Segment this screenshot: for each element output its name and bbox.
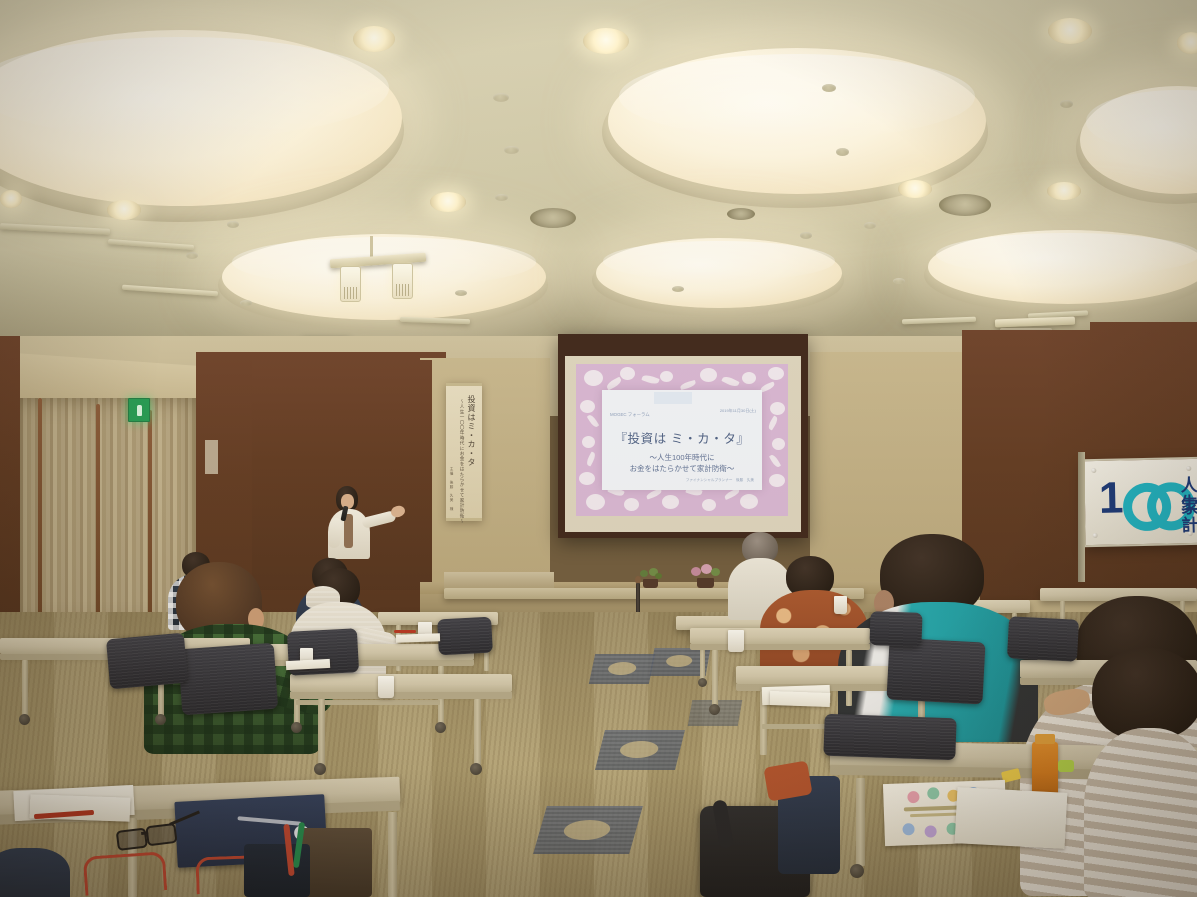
partial-br-body (1084, 728, 1197, 897)
left-wall-edge (0, 336, 20, 636)
desk-right-mid (690, 628, 870, 644)
ceiling-light-panel-4 (222, 234, 546, 320)
curtain-rod-1 (38, 398, 42, 616)
sprinkler-4 (227, 221, 239, 228)
desk-leg-rm1 (712, 650, 718, 706)
flower-bloom-1 (640, 570, 648, 577)
exit-person-icon (137, 405, 142, 416)
attendee-partial-bottom-left (0, 848, 70, 897)
downlight-4 (1177, 32, 1197, 54)
tote-handle-red-1 (83, 851, 168, 896)
flower-bloom-6 (711, 568, 720, 576)
banner-subtitle-text: ～人生一〇〇年時代にお金をはたらかせて家計防衛～ (459, 399, 465, 499)
green-item (1058, 760, 1074, 772)
chandelier-lamp-2 (392, 263, 413, 299)
sprinkler-8 (800, 232, 812, 239)
desk-leg-lm1 (22, 660, 28, 716)
brochure-page-2 (955, 787, 1068, 849)
ceiling-light-panel-5 (596, 238, 842, 308)
slide-subtitle-line1: ～人生100年時代に (602, 452, 762, 463)
sprinkler-10 (1060, 100, 1073, 108)
banner-title-text: 投資はミ・カ・タ (466, 395, 477, 453)
carpet-accent-tile-3 (595, 730, 685, 770)
sprinkler-9 (864, 222, 876, 229)
caster-lm1 (19, 714, 30, 725)
slide-header-text: MOGEC フォーラム (610, 412, 650, 418)
logo-number-1: 1 (1098, 476, 1123, 521)
banner-top-edge (446, 383, 482, 386)
board-screw-3 (1093, 533, 1098, 538)
flower-arrangement-right (688, 564, 722, 588)
slide-content-box: MOGEC フォーラム 2019年11月30日(土) 『投資は ミ・カ・タ』 ～… (602, 390, 762, 490)
chandelier-grille-2 (396, 284, 409, 296)
slide-tag-box (654, 392, 692, 404)
slide-date-text: 2019年11月30日(土) (720, 408, 756, 414)
downlight-9 (0, 190, 22, 208)
logo-board-stand (1078, 452, 1085, 582)
logo-board-100: 1 人生 家計 (1082, 457, 1197, 547)
chair-right-4[interactable] (869, 611, 922, 647)
attendee-partial-bottom-right (1084, 648, 1197, 897)
partial-br-head (1092, 648, 1197, 740)
seminar-room-photo: MOGEC フォーラム 2019年11月30日(土) 『投資は ミ・カ・タ』 ～… (0, 0, 1197, 897)
downlight-6 (430, 192, 466, 212)
sprinkler-1 (493, 93, 509, 102)
board-screw-2 (1186, 466, 1191, 471)
downlight-1 (353, 26, 395, 52)
flower-bloom-3 (655, 573, 662, 579)
ceiling-light-panel-2 (608, 48, 986, 194)
chandelier-rod (370, 236, 373, 258)
caster-lm2 (155, 714, 166, 725)
ceiling-vent-2 (939, 194, 991, 216)
vertical-banner: 投資はミ・カ・タ ～人生一〇〇年時代にお金をはたらかせて家計防衛～ 主催 後藤 … (446, 383, 482, 521)
side-table-left (444, 572, 554, 588)
carpet-accent-tile-1 (589, 654, 655, 684)
slide-title-text: 『投資は ミ・カ・タ』 (602, 428, 762, 447)
sprinkler-7 (836, 148, 849, 156)
presenter (312, 486, 408, 566)
paper-cup-1 (378, 676, 394, 698)
flower-pot-left (643, 579, 658, 588)
brown-bag (300, 828, 372, 897)
downlight-5 (107, 200, 141, 220)
desk-leg-fgr1 (856, 778, 865, 866)
board-kanji-line2: 家計 (1181, 499, 1197, 535)
caster-fl2 (470, 763, 482, 775)
bottle-cap (1035, 734, 1055, 744)
banner-credit-text: 主催 後藤 久美 様 (450, 467, 455, 513)
flower-bloom-4 (691, 567, 701, 576)
tote-print (237, 816, 301, 826)
chair-left-2[interactable] (106, 633, 188, 690)
caster-ml1 (291, 722, 302, 733)
paper-cup-5 (834, 596, 847, 614)
chair-left-1[interactable] (178, 643, 278, 716)
exit-sign (128, 398, 150, 422)
wall-tan-left (420, 358, 550, 588)
caster-fl1 (314, 763, 326, 775)
slide-subtitle-line2: お金をはたらかせて家計防衛～ (602, 463, 762, 474)
ceiling-vent-3 (727, 208, 755, 220)
red-pen (394, 630, 416, 633)
ceiling-light-panel-6 (928, 230, 1197, 304)
sprinkler-14 (672, 286, 684, 292)
flower-pot-right (697, 578, 714, 588)
curtain-rod-2 (96, 404, 100, 616)
glasses-lens-right (145, 823, 177, 847)
paper-cup-4 (728, 630, 744, 652)
chair-left-4[interactable] (437, 617, 493, 656)
caster-rm1 (709, 704, 720, 715)
chair-right-2[interactable] (823, 714, 956, 761)
chandelier-grille-1 (344, 287, 357, 299)
carpet-accent-tile-4 (533, 806, 643, 854)
sprinkler-12 (240, 300, 252, 306)
downlight-2 (583, 28, 629, 54)
chair-right-1[interactable] (886, 638, 985, 705)
wall-plate (205, 440, 218, 474)
sprinkler-2 (504, 146, 519, 154)
caster-ml2 (435, 722, 446, 733)
sprinkler-5 (186, 252, 198, 259)
chandelier-lamp-1 (340, 266, 361, 302)
sprinkler-15 (893, 278, 905, 284)
sprinkler-6 (822, 84, 836, 92)
desk-front-left (290, 674, 512, 692)
desk-leg-fl2 (474, 699, 481, 765)
ceiling-vent-1 (530, 208, 576, 228)
sprinkler-13 (455, 290, 467, 296)
desk-leg-fgl2 (388, 812, 397, 897)
downlight-3 (1048, 18, 1092, 44)
downlight-8 (1047, 182, 1081, 200)
slide-footer-text: ファイナンシャルプランナー 後藤 久美 (686, 478, 754, 483)
drink-bottle (1032, 742, 1058, 798)
caster-r2a (698, 678, 707, 687)
paper-sheet-2 (396, 633, 440, 643)
caster-fgr1 (850, 864, 864, 878)
downlight-7 (898, 180, 932, 198)
board-screw-1 (1091, 468, 1096, 473)
chair-right-3[interactable] (1007, 616, 1079, 662)
projected-slide: MOGEC フォーラム 2019年11月30日(土) 『投資は ミ・カ・タ』 ～… (576, 364, 788, 516)
desk-leg-fl1 (318, 699, 325, 765)
sprinkler-3 (495, 194, 508, 201)
handout-right-2 (770, 691, 830, 707)
desk-front-left-edge (290, 692, 512, 699)
